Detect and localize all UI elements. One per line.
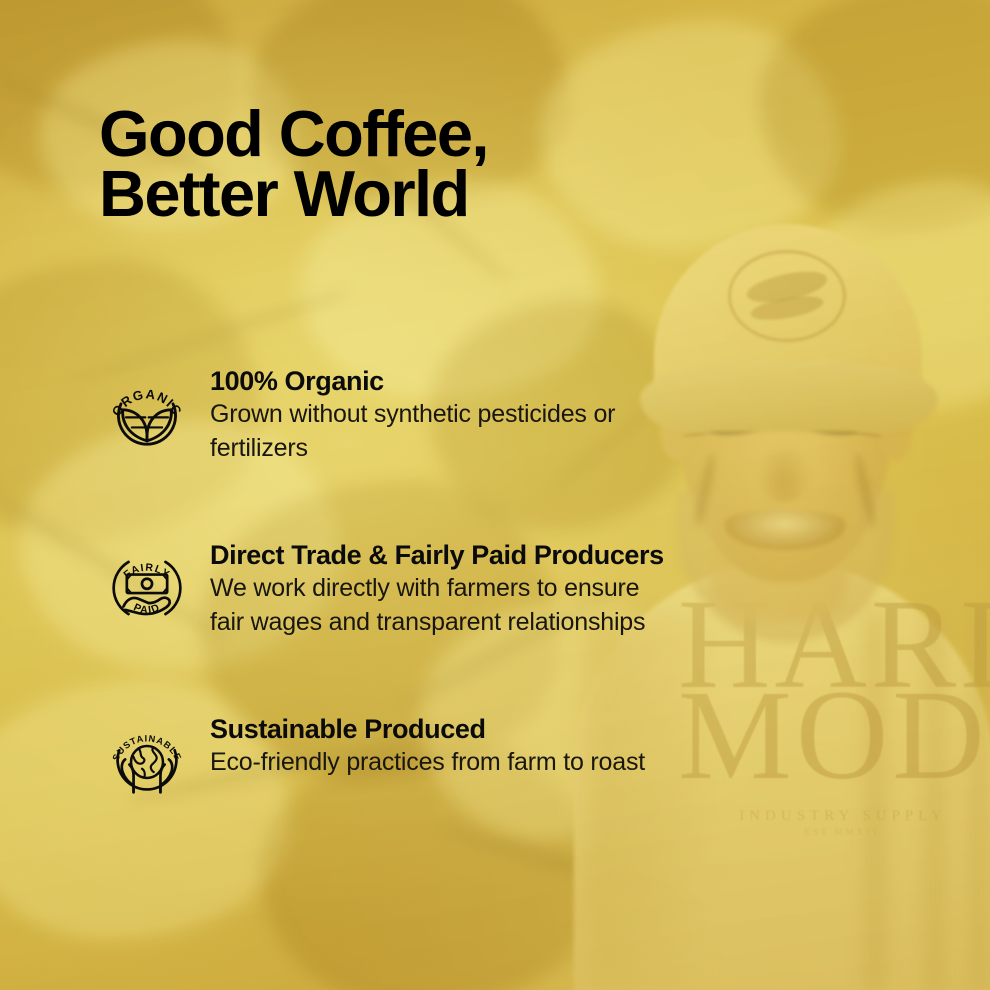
feature-title: Direct Trade & Fairly Paid Producers [210, 540, 779, 570]
sustainable-badge-icon: SUSTAINABLE [105, 720, 189, 804]
list-item: ORGANIC 100% Organic Grown without synth… [99, 366, 779, 484]
organic-badge-icon: ORGANIC [105, 372, 189, 456]
svg-text:SUSTAINABLE: SUSTAINABLE [111, 733, 184, 762]
page-title: Good Coffee, Better World [99, 104, 719, 225]
svg-text:ORGANIC: ORGANIC [109, 386, 186, 418]
feature-description: Grown without synthetic pesticides or fe… [210, 398, 779, 465]
feature-description: We work directly with farmers to ensure … [210, 572, 779, 639]
promo-poster: HARD MODE INDUSTRY SUPPLY EST MMXIV [0, 0, 990, 990]
fairly-paid-badge-icon: FAIRLY PAID [105, 546, 189, 630]
feature-description: Eco-friendly practices from farm to roas… [210, 746, 779, 780]
feature-title: 100% Organic [210, 366, 779, 396]
feature-text: Sustainable Produced Eco-friendly practi… [210, 714, 779, 780]
sustainable-arc-text: SUSTAINABLE [111, 733, 184, 762]
feature-text: Direct Trade & Fairly Paid Producers We … [210, 540, 779, 639]
feature-text: 100% Organic Grown without synthetic pes… [210, 366, 779, 465]
poster-content: Good Coffee, Better World [0, 0, 990, 990]
list-item: FAIRLY PAID Direct Trade & Fairly Paid P… [99, 540, 779, 658]
feature-list: ORGANIC 100% Organic Grown without synth… [99, 366, 779, 832]
list-item: SUSTAINABLE Sustainable Produced Eco-fri… [99, 714, 779, 832]
organic-arc-text: ORGANIC [109, 386, 186, 418]
feature-title: Sustainable Produced [210, 714, 779, 744]
